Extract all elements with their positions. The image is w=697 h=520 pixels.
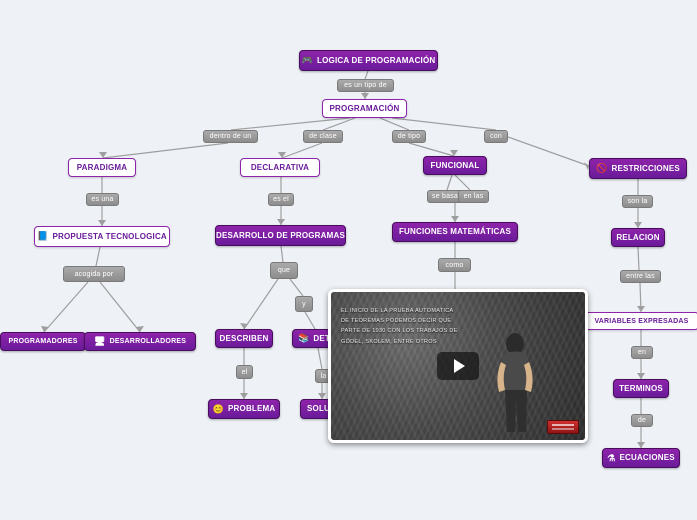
connector-label-text: de tipo: [398, 133, 420, 140]
node-label: PARADIGMA: [77, 164, 128, 172]
node-declarativa[interactable]: DECLARATIVA: [240, 158, 320, 177]
node-label: DESARROLLADORES: [110, 338, 187, 345]
node-desarrolladores[interactable]: 🖥 DESARROLLADORES: [84, 332, 196, 351]
node-label: PROGRAMADORES: [8, 338, 77, 345]
connector-label-y: y: [295, 296, 313, 312]
node-programadores[interactable]: PROGRAMADORES: [0, 332, 86, 351]
node-label: PROGRAMACIÓN: [330, 105, 400, 113]
connector-label-text: es el: [273, 196, 289, 203]
node-describen[interactable]: DESCRIBEN: [215, 329, 273, 348]
video-caption-line: GÖDEL, SKOLEM, ENTRE OTROS: [341, 337, 481, 347]
play-triangle-icon: [454, 359, 465, 373]
connector-label-text: y: [302, 301, 306, 308]
video-caption-line: DE TEOREMAS PODEMOS DECIR QUE: [341, 316, 481, 326]
connector-label-es-el: es el: [268, 193, 294, 206]
node-label: DESARROLLO DE PROGRAMAS: [216, 232, 345, 240]
connector-label-text: como: [446, 262, 464, 269]
connector-label-text: se basa: [432, 193, 458, 200]
connector-label-text: dentro de un: [210, 133, 252, 140]
node-restricciones[interactable]: 🚫 RESTRICCIONES: [589, 158, 687, 179]
flask-icon: ⚗: [607, 454, 615, 463]
node-problema[interactable]: 😊 PROBLEMA: [208, 399, 280, 419]
node-label: FUNCIONES MATEMÁTICAS: [399, 228, 511, 236]
connector-label-en-las: en las: [458, 190, 489, 203]
node-programacion[interactable]: PROGRAMACIÓN: [322, 99, 407, 118]
node-logica-de-programacion[interactable]: 🎮 LOGICA DE PROGRAMACIÓN: [299, 50, 438, 71]
mindmap-canvas: 🎮 LOGICA DE PROGRAMACIÓN es un tipo de P…: [0, 0, 697, 520]
play-button[interactable]: [437, 352, 479, 380]
book-icon: 📘: [37, 232, 48, 241]
node-label: VARIABLES EXPRESADAS: [594, 318, 688, 325]
monitor-icon: 🖥: [94, 337, 106, 346]
connector-label-como: como: [438, 258, 471, 272]
video-logo: [547, 420, 579, 434]
connector-label-text: es un tipo de: [344, 82, 387, 89]
node-propuesta-tecnologica[interactable]: 📘 PROPUESTA TECNOLOGICA: [34, 226, 170, 247]
connector-label-text: el: [242, 369, 248, 376]
connector-label-text: que: [278, 267, 290, 274]
node-label: ECUACIONES: [619, 454, 674, 462]
node-label: SOLU: [307, 405, 330, 413]
node-label: DESCRIBEN: [220, 335, 269, 343]
node-label: RESTRICCIONES: [612, 165, 680, 173]
connector-label-es-un-tipo-de: es un tipo de: [337, 79, 394, 92]
face-icon: 😊: [213, 405, 224, 414]
connector-label-text: de: [638, 417, 646, 424]
connector-label-text: en: [638, 349, 646, 356]
node-label: LOGICA DE PROGRAMACIÓN: [317, 57, 435, 65]
connector-label-dentro-de-un: dentro de un: [203, 130, 258, 143]
connector-label-text: son la: [628, 198, 648, 205]
node-label: FUNCIONAL: [431, 162, 480, 170]
video-player[interactable]: EL INICIO DE LA PRUEBA AUTOMATICA DE TEO…: [328, 289, 588, 443]
connector-label-el: el: [236, 365, 253, 379]
node-variables-expresadas[interactable]: VARIABLES EXPRESADAS: [584, 312, 697, 330]
connector-label-text: acogida por: [75, 271, 114, 278]
connector-label-text: entre las: [626, 273, 655, 280]
hand-illustration-icon: [493, 332, 537, 437]
connector-label-entre-las: entre las: [620, 270, 661, 283]
connector-label-son-la: son la: [622, 195, 653, 208]
books-icon: 📚: [298, 334, 309, 343]
connector-label-de-clase: de clase: [303, 130, 343, 143]
node-desarrollo-de-programas[interactable]: DESARROLLO DE PROGRAMAS: [215, 225, 346, 246]
node-terminos[interactable]: TERMINOS: [613, 379, 669, 398]
connector-label-en: en: [631, 346, 653, 359]
node-label: RELACION: [616, 234, 659, 242]
connector-label-con: con: [484, 130, 508, 143]
node-funcional[interactable]: FUNCIONAL: [423, 156, 487, 175]
node-label: PROPUESTA TECNOLOGICA: [52, 233, 166, 241]
connector-label-text: es una: [91, 196, 113, 203]
game-controller-icon: 🎮: [302, 56, 313, 65]
connector-label-que: que: [270, 262, 298, 279]
connector-label-text: la: [321, 373, 327, 380]
video-caption: EL INICIO DE LA PRUEBA AUTOMATICA DE TEO…: [341, 306, 481, 347]
video-caption-line: PARTE DE 1930 CON LOS TRABAJOS DE: [341, 326, 481, 336]
node-label: PROBLEMA: [228, 405, 275, 413]
node-label: DECLARATIVA: [251, 164, 309, 172]
connector-label-text: con: [490, 133, 502, 140]
video-caption-line: EL INICIO DE LA PRUEBA AUTOMATICA: [341, 306, 481, 316]
node-funciones-matematicas[interactable]: FUNCIONES MATEMÁTICAS: [392, 222, 518, 242]
connector-label-de: de: [631, 414, 653, 427]
connector-label-text: en las: [464, 193, 484, 200]
node-paradigma[interactable]: PARADIGMA: [68, 158, 136, 177]
node-label: TERMINOS: [619, 385, 663, 393]
no-entry-icon: 🚫: [596, 164, 607, 173]
connector-label-es-una: es una: [86, 193, 119, 206]
node-relacion[interactable]: RELACION: [611, 228, 665, 247]
connector-label-de-tipo: de tipo: [392, 130, 426, 143]
connector-label-text: de clase: [309, 133, 337, 140]
connector-label-acogida-por: acogida por: [63, 266, 125, 282]
node-ecuaciones[interactable]: ⚗ ECUACIONES: [602, 448, 680, 468]
